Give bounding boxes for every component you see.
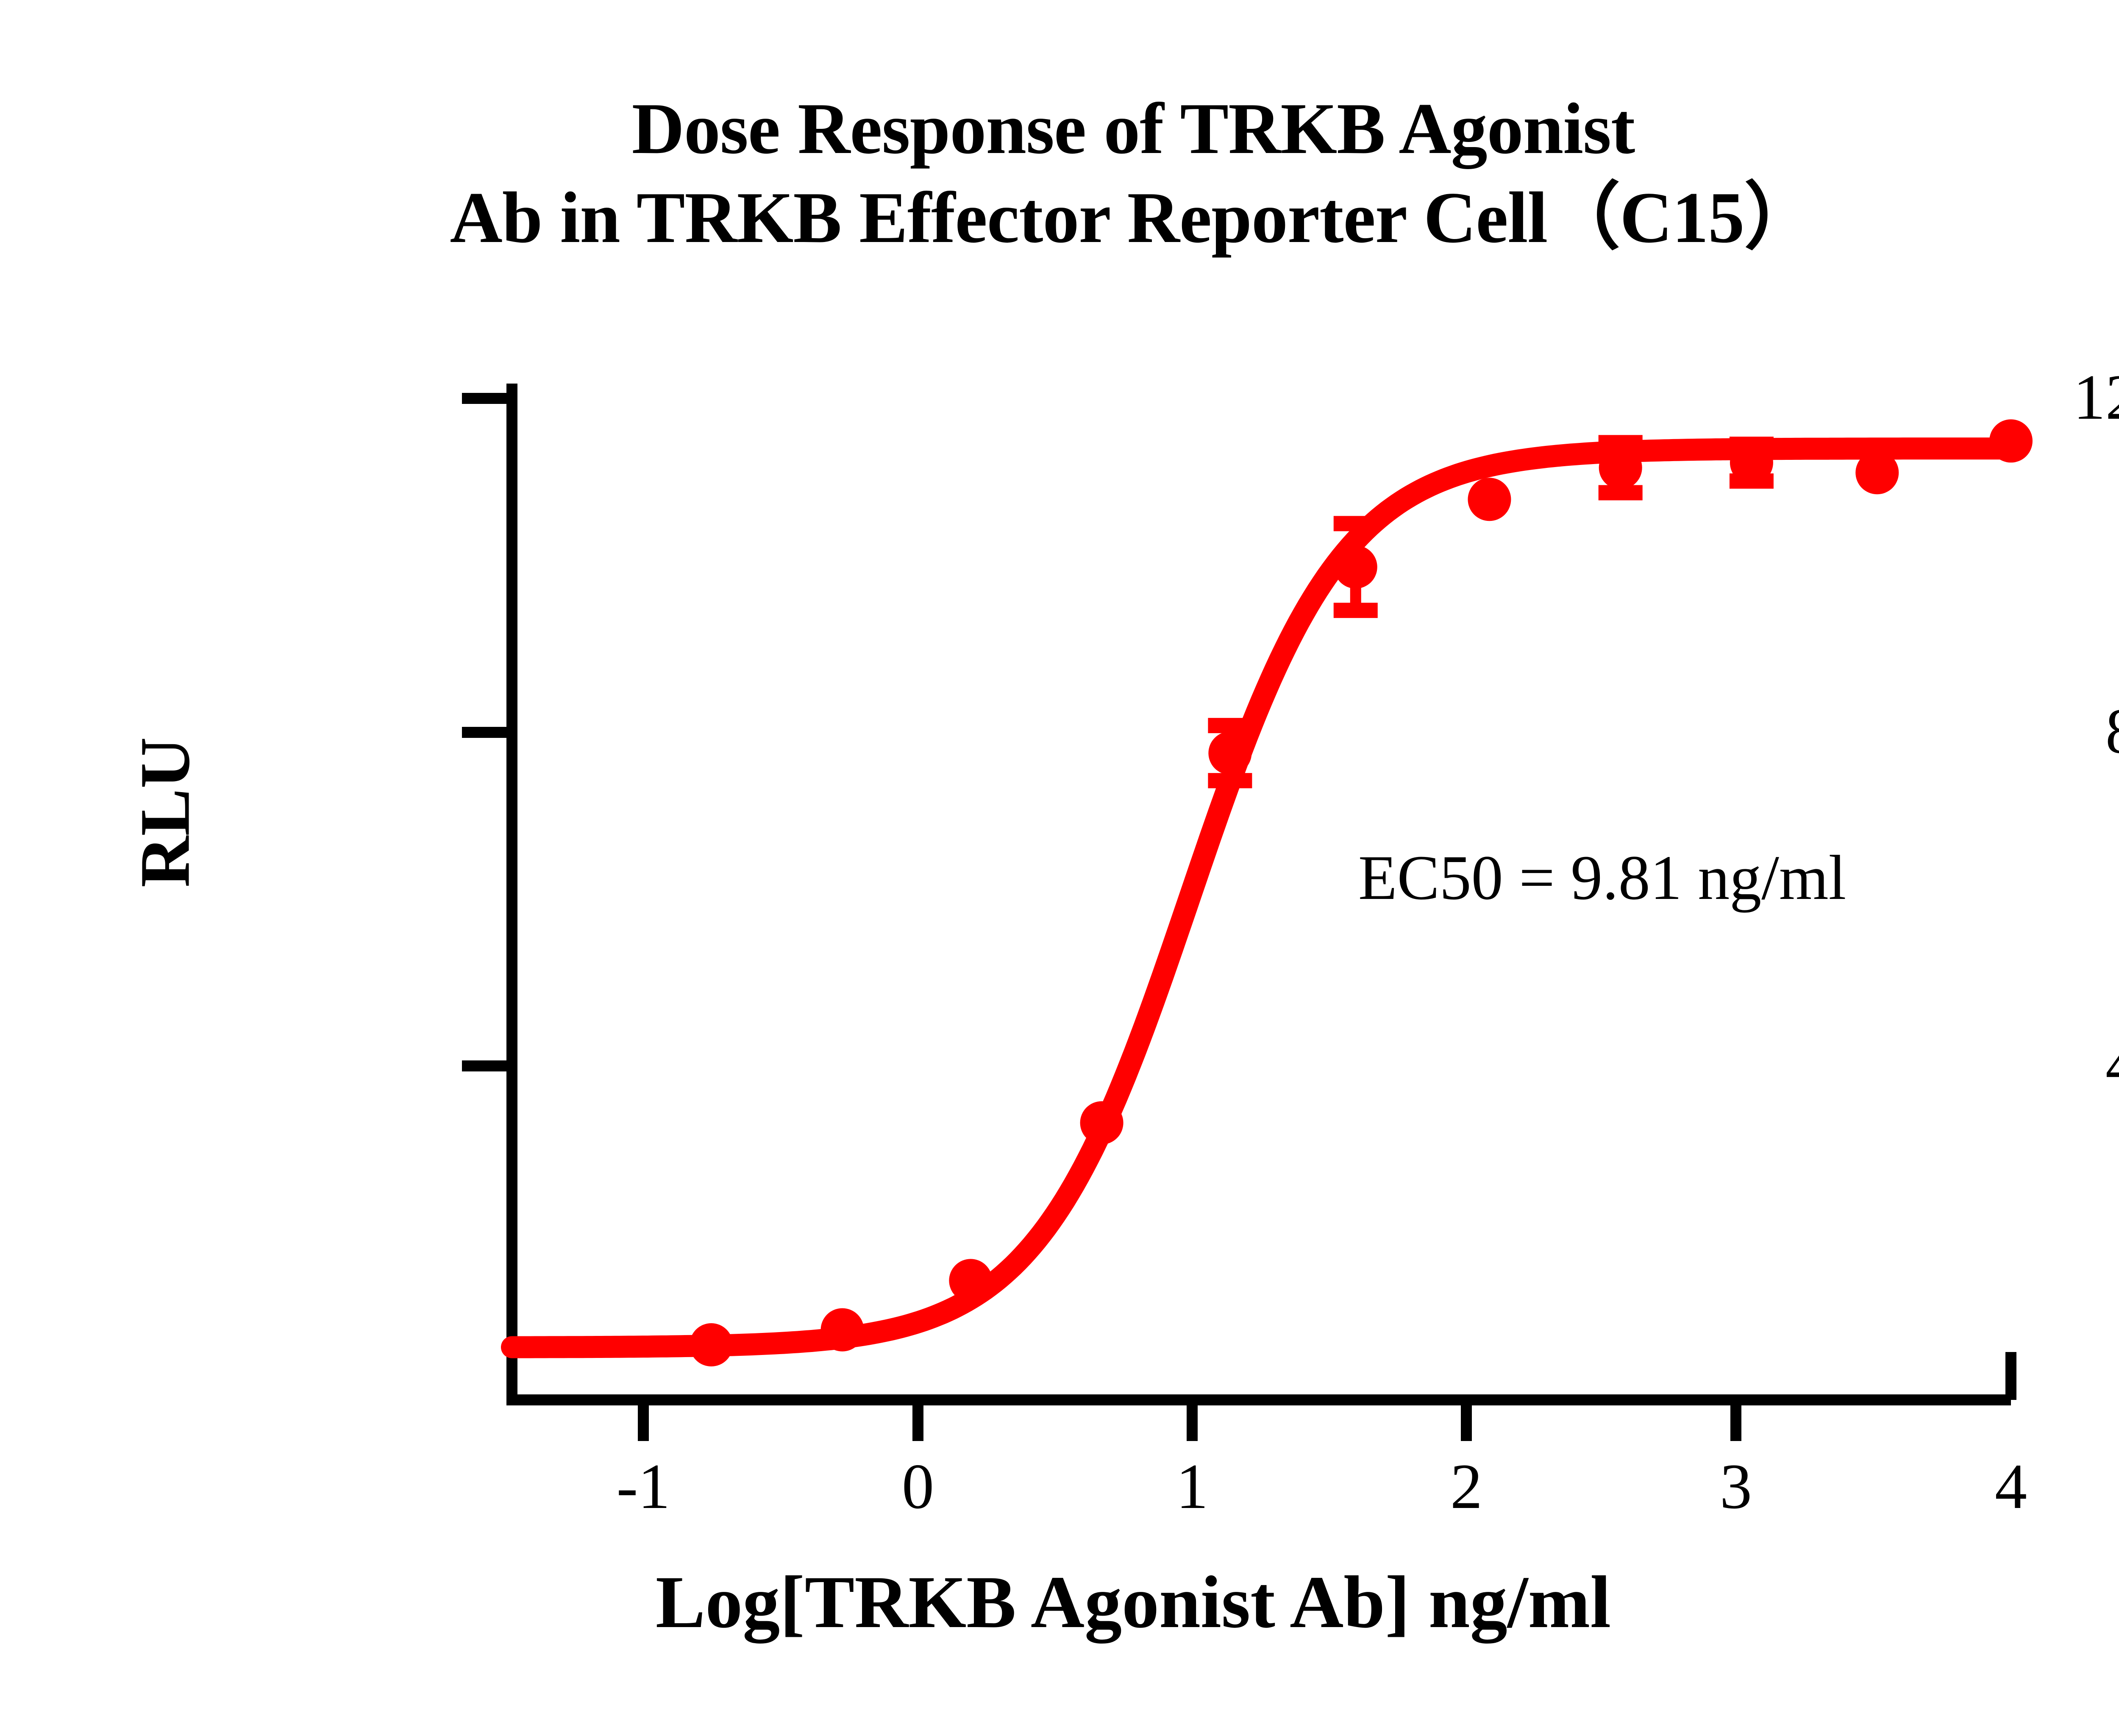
data-point <box>1208 732 1251 775</box>
data-point <box>1989 419 2033 462</box>
fit-curve <box>512 448 2011 1347</box>
x-axis-ticks <box>643 1400 1736 1441</box>
data-point <box>821 1308 864 1352</box>
data-point <box>1855 451 1899 494</box>
data-point <box>1080 1101 1123 1144</box>
data-point <box>1730 441 1773 484</box>
data-point <box>1334 545 1377 589</box>
data-point <box>949 1259 992 1302</box>
plot-canvas <box>0 0 2119 1736</box>
y-axis-ticks <box>462 398 512 1066</box>
data-point <box>1468 478 1511 521</box>
data-point <box>1599 446 1642 489</box>
data-point <box>690 1323 733 1366</box>
data-point-markers <box>690 419 2033 1366</box>
axis-lines <box>506 384 2011 1400</box>
chart-figure: Dose Response of TRKB Agonist Ab in TRKB… <box>0 0 2119 1736</box>
